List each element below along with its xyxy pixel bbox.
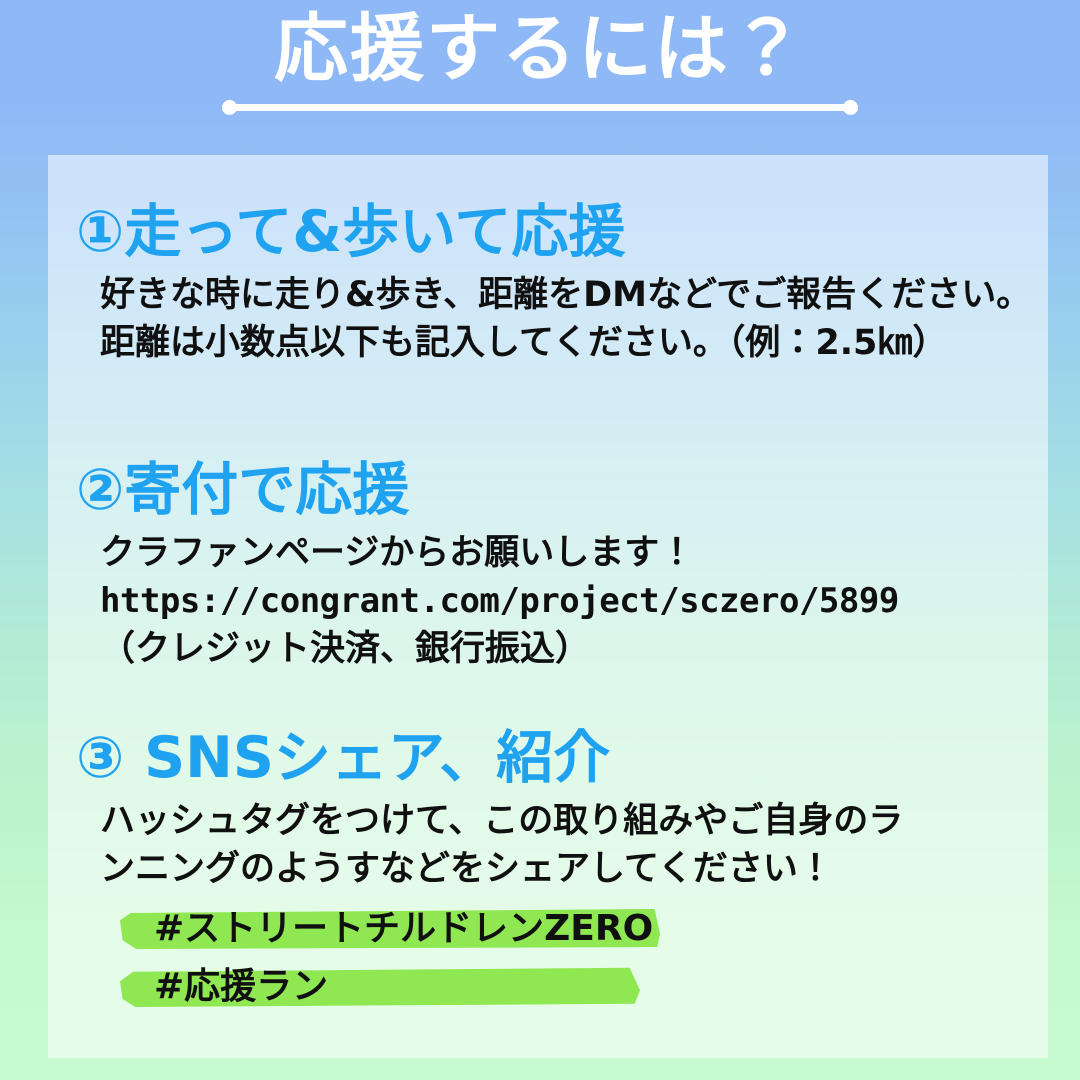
- section-3-line-2: ンニングのようすなどをシェアしてください！: [100, 845, 1048, 893]
- section-3-heading: ③ SNSシェア、紹介: [48, 725, 1048, 791]
- page-title: 応援するには？: [0, 6, 1080, 92]
- section-1-heading: ①走って&歩いて応援: [48, 199, 1048, 265]
- content-panel: ①走って&歩いて応援 好きな時に走り&歩き、距離をDMなどでご報告ください。 距…: [48, 155, 1048, 1058]
- section-2-line-1: クラファンページからお願いします！: [100, 529, 1048, 577]
- section-1-body: 好きな時に走り&歩き、距離をDMなどでご報告ください。 距離は小数点以下も記入し…: [48, 271, 1048, 367]
- section-3-line-1: ハッシュタグをつけて、この取り組みやご自身のラ: [100, 797, 1048, 845]
- section-2-body: クラファンページからお願いします！ https://congrant.com/p…: [48, 529, 1048, 673]
- section-1-line-1: 好きな時に走り&歩き、距離をDMなどでご報告ください。: [100, 271, 1048, 319]
- hashtag-label-2: #応援ラン: [154, 961, 328, 1013]
- section-1-line-2: 距離は小数点以下も記入してください。（例：2.5㎞）: [100, 319, 1048, 367]
- divider-dot-right-icon: [843, 100, 858, 115]
- poster-canvas: 応援するには？ ①走って&歩いて応援 好きな時に走り&歩き、距離をDMなどでご報…: [0, 0, 1080, 1080]
- title-divider-rule: [222, 98, 858, 116]
- title-block: 応援するには？: [0, 6, 1080, 92]
- section-sns-share: ③ SNSシェア、紹介 ハッシュタグをつけて、この取り組みやご自身のラ ンニング…: [48, 725, 1048, 1019]
- hashtag-label-1: #ストリートチルドレンZERO: [154, 903, 653, 955]
- section-2-line-3: （クレジット決済、銀行振込）: [100, 625, 1048, 673]
- section-2-heading: ②寄付で応援: [48, 457, 1048, 523]
- hashtag-item[interactable]: #ストリートチルドレンZERO: [120, 903, 1048, 955]
- hashtag-list: #ストリートチルドレンZERO #応援ラン: [100, 903, 1048, 1013]
- section-run-and-walk: ①走って&歩いて応援 好きな時に走り&歩き、距離をDMなどでご報告ください。 距…: [48, 199, 1048, 367]
- hashtag-item[interactable]: #応援ラン: [120, 961, 1048, 1013]
- section-donation: ②寄付で応援 クラファンページからお願いします！ https://congran…: [48, 457, 1048, 673]
- section-3-body: ハッシュタグをつけて、この取り組みやご自身のラ ンニングのようすなどをシェアして…: [48, 797, 1048, 1013]
- divider-bar: [230, 104, 850, 111]
- crowdfunding-url-link[interactable]: https://congrant.com/project/sczero/5899: [100, 577, 1048, 625]
